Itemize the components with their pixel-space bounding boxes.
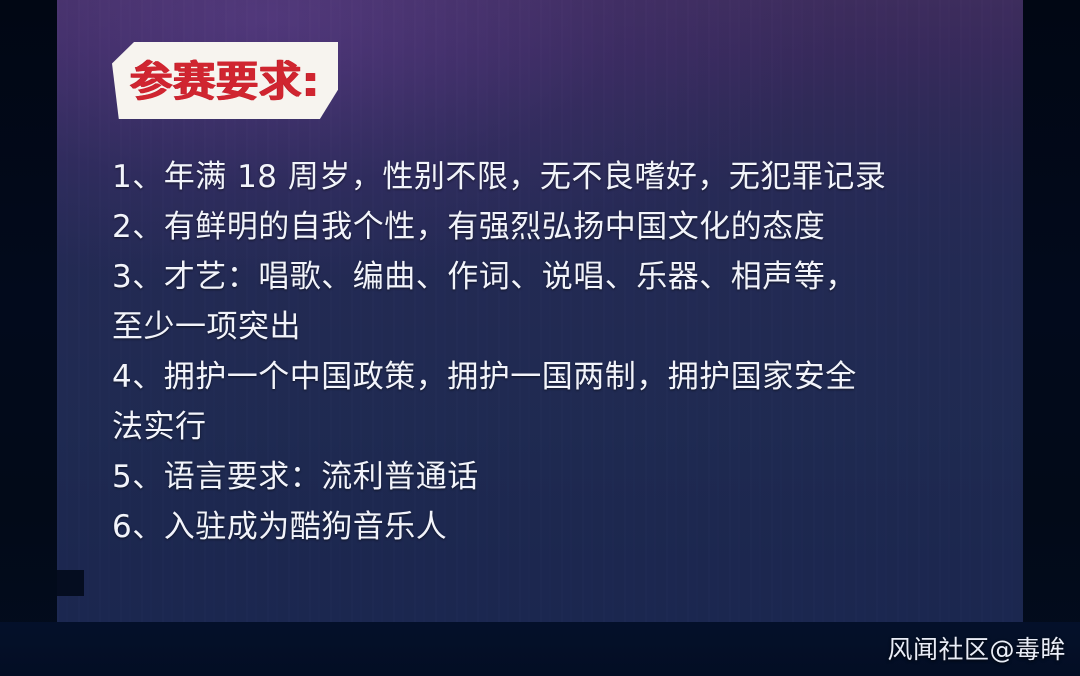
requirement-line: 3、才艺：唱歌、编曲、作词、说唱、乐器、相声等， [112,252,1017,302]
requirement-line: 5、语言要求：流利普通话 [112,452,1017,502]
contest-requirements-banner: 参赛要求: [112,42,338,119]
bottom-dark-frame: 风闻社区@毒眸 [0,622,1080,676]
requirement-line: 2、有鲜明的自我个性，有强烈弘扬中国文化的态度 [112,202,1017,252]
left-dark-frame [0,0,57,676]
requirements-list: 1、年满 18 周岁，性别不限，无不良嗜好，无犯罪记录 2、有鲜明的自我个性，有… [112,152,1017,552]
watermark-text: 风闻社区@毒眸 [887,630,1066,666]
requirement-line-continuation: 至少一项突出 [112,302,1017,352]
right-dark-frame [1023,0,1080,676]
requirement-line-continuation: 法实行 [112,402,1017,452]
screenshot-root: 参赛要求: 1、年满 18 周岁，性别不限，无不良嗜好，无犯罪记录 2、有鲜明的… [0,0,1080,676]
requirement-line: 4、拥护一个中国政策，拥护一国两制，拥护国家安全 [112,352,1017,402]
banner-title-text: 参赛要求: [130,61,320,103]
requirement-line: 1、年满 18 周岁，性别不限，无不良嗜好，无犯罪记录 [112,152,1017,202]
poster-panel: 参赛要求: 1、年满 18 周岁，性别不限，无不良嗜好，无犯罪记录 2、有鲜明的… [57,0,1023,622]
bottom-left-notch-decoration [57,570,84,596]
requirement-line: 6、入驻成为酷狗音乐人 [112,502,1017,552]
